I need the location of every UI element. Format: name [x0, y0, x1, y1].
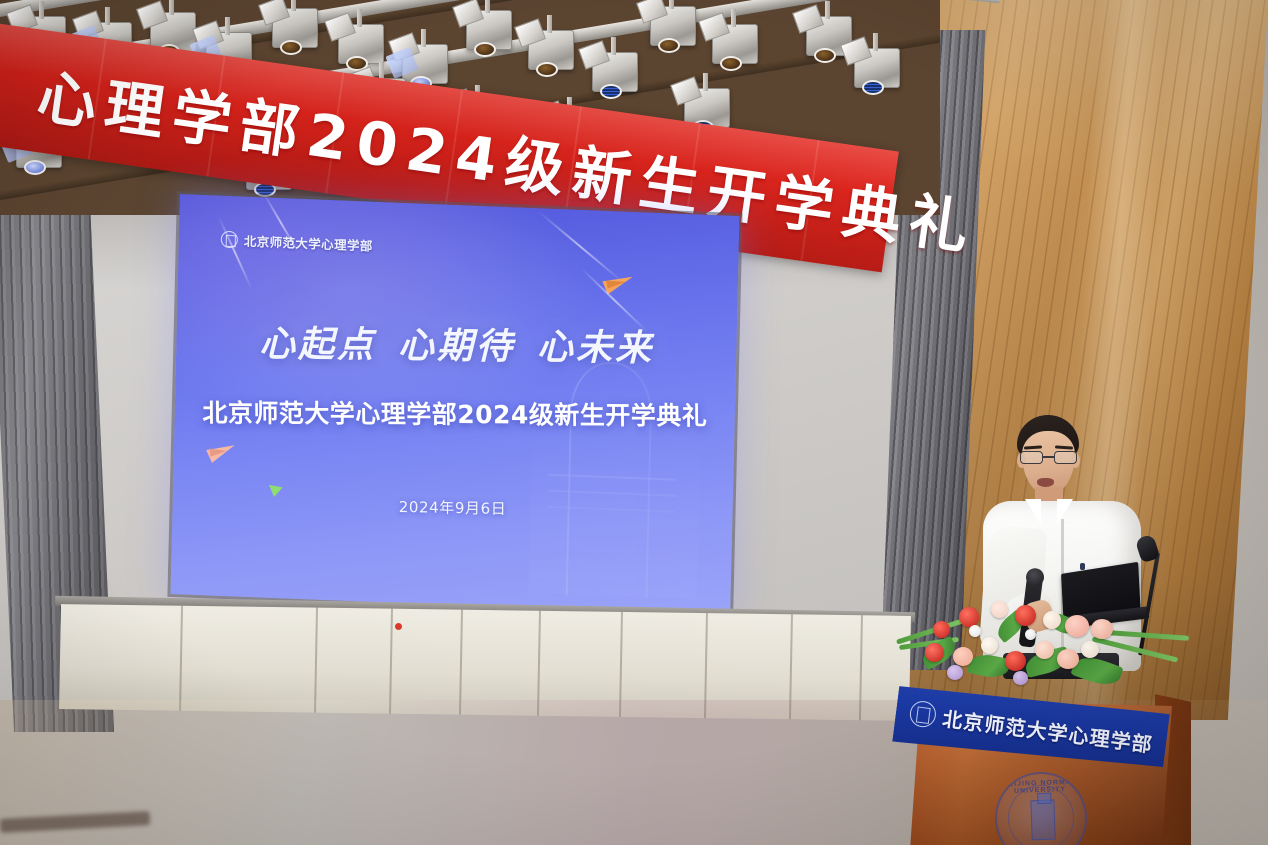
photo-scene: 心理学部2024级新生开学典礼 北京师范大学心理学部 心起点心期待心未来 北京师… — [0, 0, 1268, 845]
floral-arrangement — [895, 585, 1200, 695]
glasses-icon — [1019, 451, 1079, 464]
projection-screen: 北京师范大学心理学部 心起点心期待心未来 北京师范大学心理学部2024级新生开学… — [170, 194, 739, 616]
slide-surface: 北京师范大学心理学部 心起点心期待心未来 北京师范大学心理学部2024级新生开学… — [170, 194, 739, 616]
shirt-collar — [1057, 499, 1073, 525]
bnu-seal-emblem: BEIJING NORMAL UNIVERSITY 1902 — [993, 770, 1088, 845]
panel-seam — [314, 608, 318, 713]
spotlight-fixture-mesh — [854, 48, 900, 88]
podium: BEIJING NORMAL UNIVERSITY 1902 北京师范大学心理学… — [900, 680, 1190, 845]
slide-streak — [538, 210, 624, 282]
spotlight-fixture — [712, 24, 758, 64]
spotlight-fixture-mesh — [592, 52, 638, 92]
spotlight-fixture — [528, 30, 574, 70]
spotlight-fixture — [338, 24, 384, 64]
panel-seam — [389, 609, 393, 714]
slide-calligraphy-title: 心起点心期待心未来 — [176, 314, 736, 372]
emblem-tower-icon — [1030, 800, 1055, 841]
spotlight-fixture — [466, 10, 512, 50]
slide-building-watermark — [529, 344, 703, 599]
panel-seam — [179, 606, 183, 711]
slide-subtitle: 北京师范大学心理学部2024级新生开学典礼 — [175, 393, 735, 432]
spotlight-fixture — [650, 6, 696, 46]
red-wall-dot — [395, 623, 402, 630]
panel-seam — [459, 610, 463, 715]
shirt-collar — [1025, 499, 1041, 525]
shirt-pocket-pen — [1080, 563, 1085, 570]
bnu-seal-icon — [908, 700, 937, 729]
spotlight-fixture — [272, 8, 318, 48]
calligraphy-phrase-1: 心起点 — [259, 315, 376, 368]
speaker-mouth — [1037, 478, 1054, 487]
spotlight-fixture — [402, 44, 448, 84]
calligraphy-phrase-3: 心未来 — [537, 318, 654, 371]
green-triangle-icon — [267, 485, 283, 498]
calligraphy-phrase-2: 心期待 — [398, 316, 515, 369]
